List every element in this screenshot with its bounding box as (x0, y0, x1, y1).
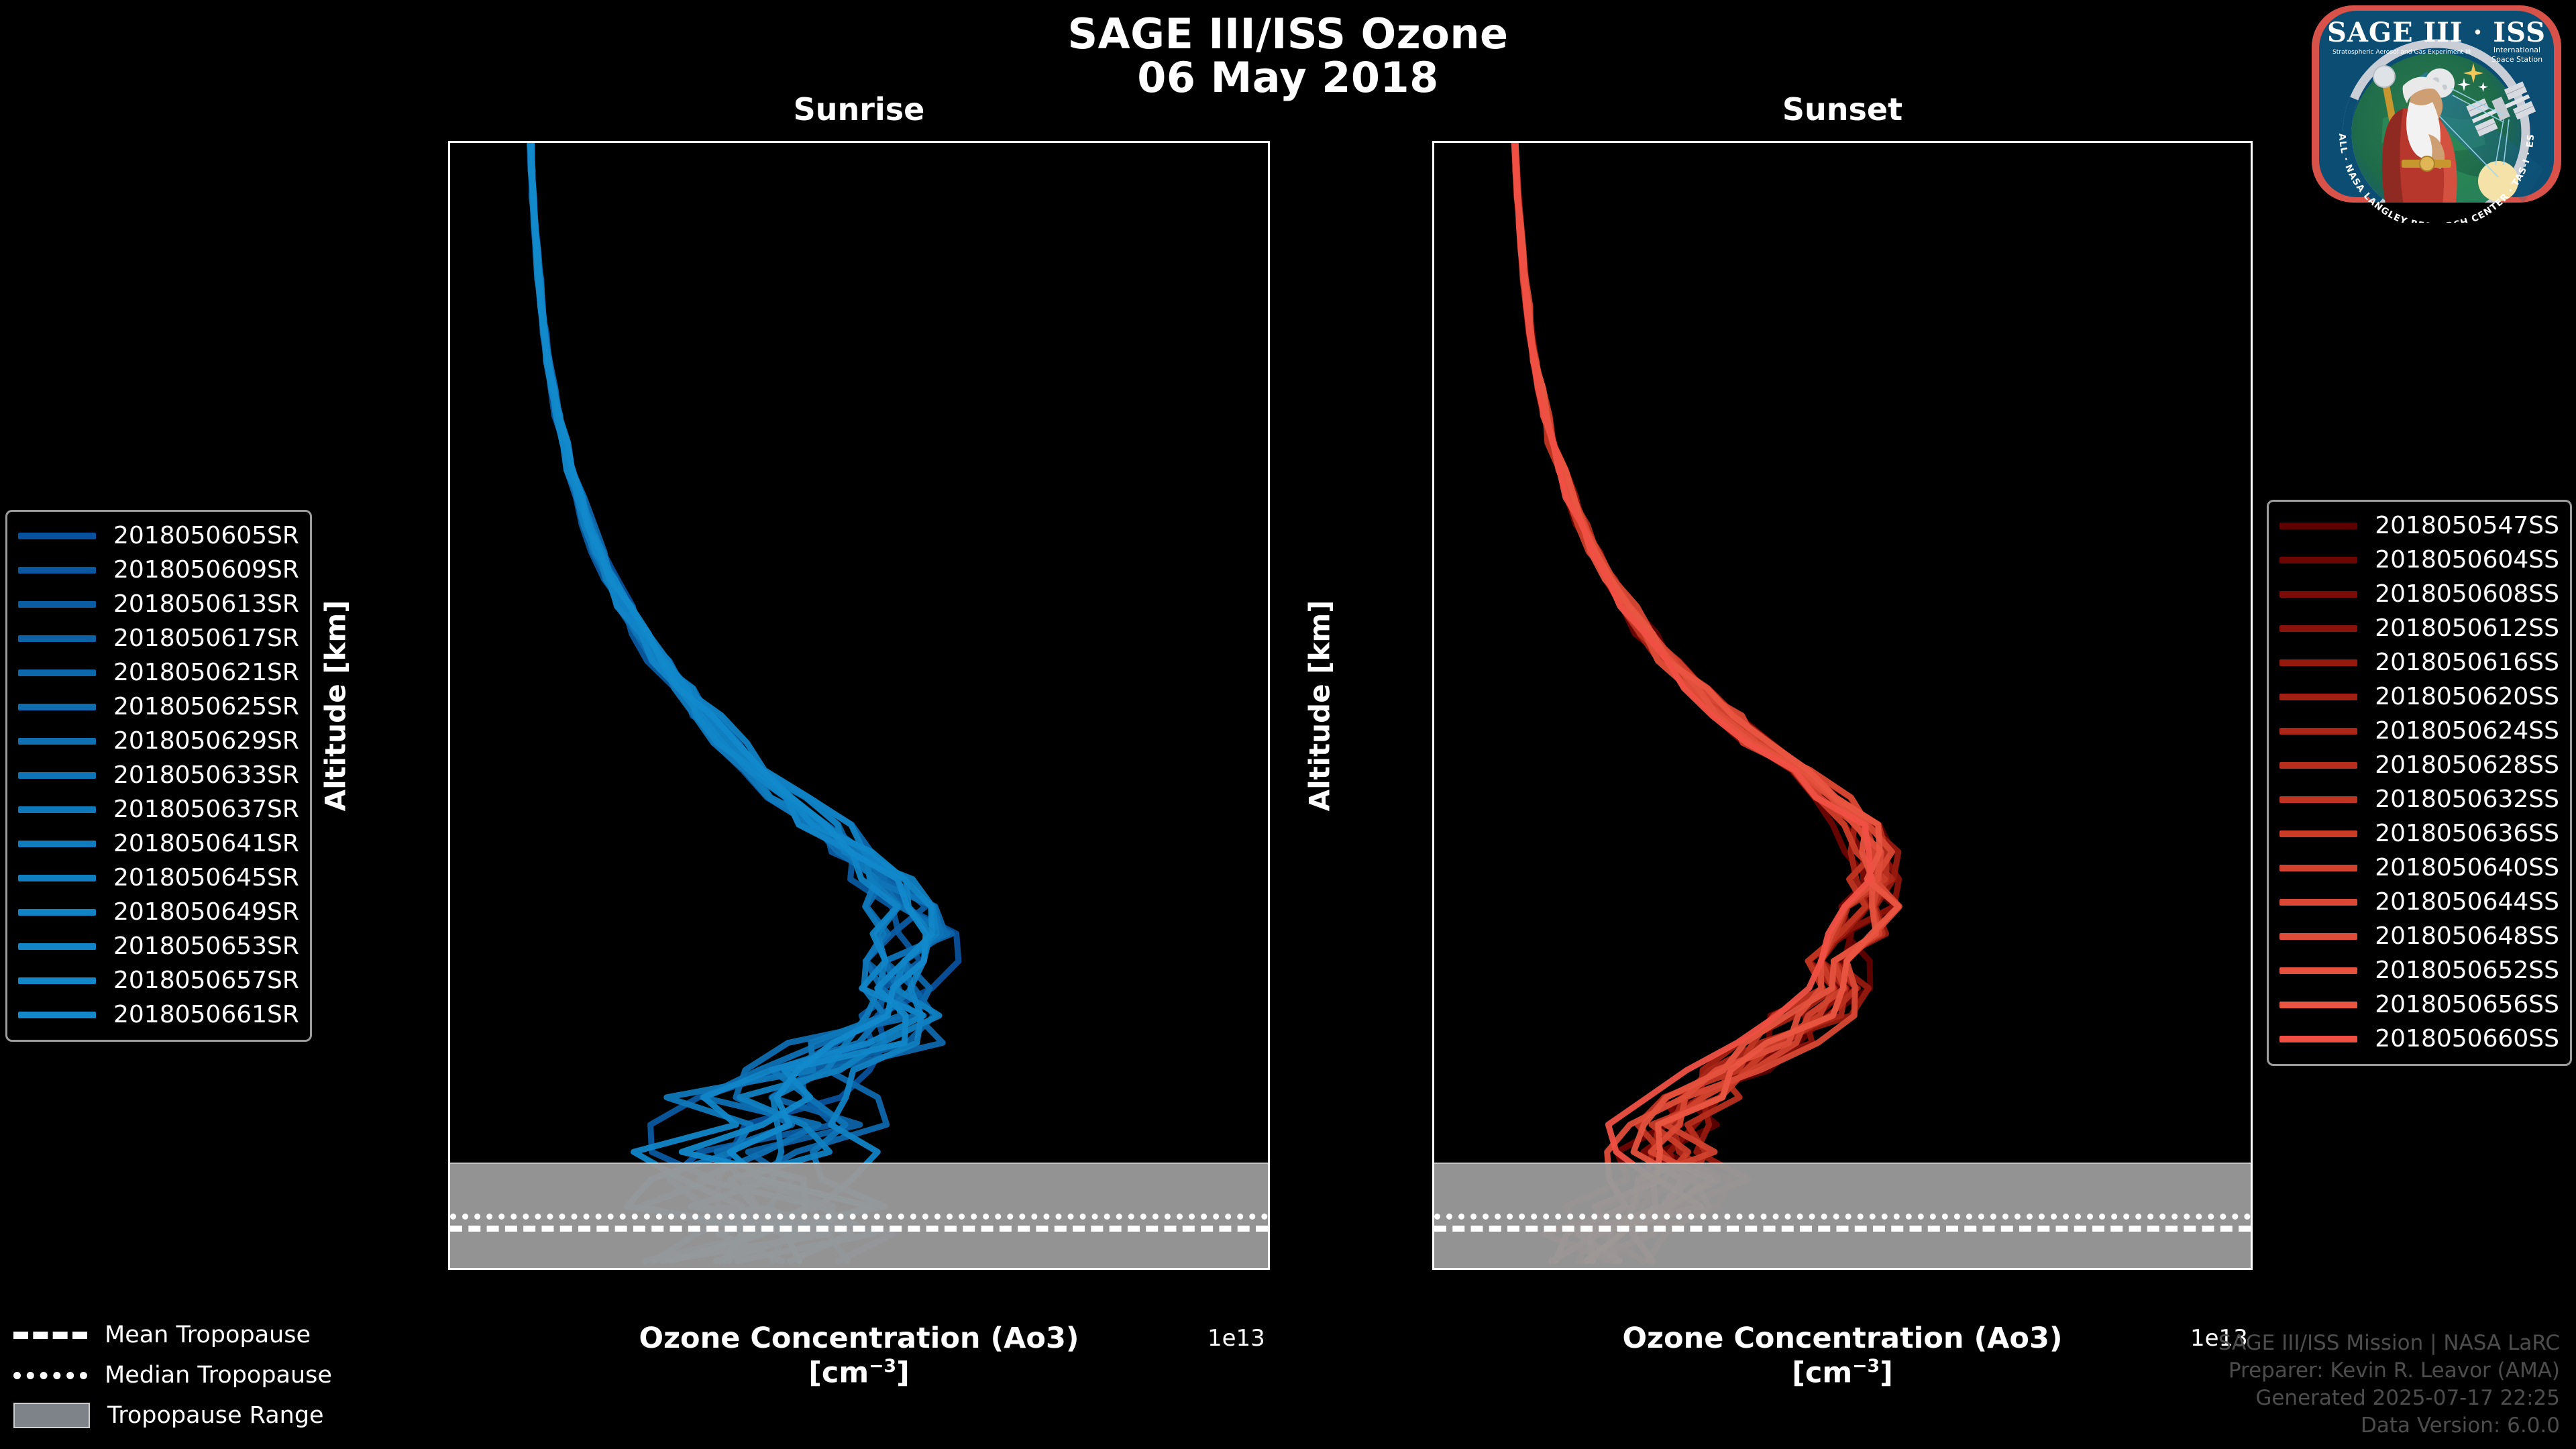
legend-item-label: 2018050547SS (2375, 512, 2559, 539)
legend-item[interactable]: 2018050605SR (18, 519, 299, 553)
legend-color-swatch (2279, 523, 2357, 529)
tropopause-legend-item[interactable]: Tropopause Range (13, 1395, 332, 1436)
legend-item-label: 2018050648SS (2375, 922, 2559, 950)
plot-area-sunset[interactable]: 5045403530252015100.00.20.40.60.81.0 (1432, 141, 2253, 1270)
legend-item-label: 2018050620SS (2375, 683, 2559, 710)
logo-subtitle-left: Stratospheric Aerosol and Gas Experiment… (2332, 48, 2471, 56)
x-tick-mark (1806, 1268, 1808, 1270)
legend-color-swatch (18, 601, 96, 608)
logo-svg: SAGE III · ISS Stratospheric Aerosol and… (2302, 1, 2571, 223)
legend-item[interactable]: 2018050547SS (2279, 508, 2559, 543)
x-tick-mark (972, 1268, 974, 1270)
legend-item-label: 2018050661SR (113, 1001, 299, 1028)
figure-title: SAGE III/ISS Ozone 06 May 2018 (0, 12, 2576, 99)
legend-item[interactable]: 2018050608SS (2279, 577, 2559, 611)
y-tick-mark (448, 960, 450, 962)
y-tick-mark (1432, 278, 1434, 280)
legend-color-swatch (18, 1012, 96, 1018)
logo-title: SAGE III · ISS (2327, 17, 2546, 48)
legend-color-swatch (18, 635, 96, 642)
legend-item-label: 2018050660SS (2375, 1025, 2559, 1053)
median-tropopause-line-sunset (1434, 1214, 2251, 1220)
legend-item[interactable]: 2018050633SR (18, 758, 299, 792)
figure-title-line1: SAGE III/ISS Ozone (1067, 9, 1508, 58)
mean-tropopause-line-sunrise (450, 1226, 1268, 1232)
x-axis-label-line2: [cm−3] (448, 1356, 1270, 1390)
legend-color-swatch (2279, 1036, 2357, 1042)
x-axis-exponent-sunrise: 1e13 (1207, 1325, 1265, 1352)
credits-block: SAGE III/ISS Mission | NASA LaRC Prepare… (2218, 1330, 2560, 1440)
legend-item-label: 2018050641SR (113, 830, 299, 857)
legend-color-swatch (18, 841, 96, 847)
y-tick-mark (448, 415, 450, 417)
y-tick-mark (1432, 824, 1434, 826)
legend-item[interactable]: 2018050612SS (2279, 611, 2559, 645)
y-tick-mark (1432, 688, 1434, 690)
y-tick-mark-right (2251, 278, 2253, 280)
legend-item[interactable]: 2018050636SS (2279, 816, 2559, 851)
legend-color-swatch (18, 669, 96, 676)
x-axis-label-line1: Ozone Concentration (Ao3) (448, 1322, 1270, 1356)
legend-sunset[interactable]: 2018050547SS2018050604SS2018050608SS2018… (2267, 500, 2572, 1066)
credits-line-generated: Generated 2025-07-17 22:25 (2218, 1385, 2560, 1412)
y-tick-mark (1432, 1233, 1434, 1235)
legend-item[interactable]: 2018050661SR (18, 998, 299, 1032)
legend-item-label: 2018050644SS (2375, 888, 2559, 916)
legend-item-label: 2018050649SR (113, 898, 299, 926)
y-tick-mark (1432, 415, 1434, 417)
legend-color-swatch (18, 738, 96, 745)
legend-item[interactable]: 2018050604SS (2279, 543, 2559, 577)
subplot-title-sunrise: Sunrise (448, 91, 1270, 127)
y-tick-mark-right (1268, 278, 1270, 280)
legend-item[interactable]: 2018050617SR (18, 621, 299, 655)
legend-item[interactable]: 2018050628SS (2279, 748, 2559, 782)
legend-item[interactable]: 2018050616SS (2279, 645, 2559, 680)
y-tick-mark (1432, 1096, 1434, 1098)
legend-color-swatch (2279, 694, 2357, 700)
y-tick-mark (448, 824, 450, 826)
y-tick-mark-right (1268, 1233, 1270, 1235)
legend-color-swatch (18, 567, 96, 574)
logo-subtitle-right-1: International (2493, 46, 2540, 54)
credits-line-mission: SAGE III/ISS Mission | NASA LaRC (2218, 1330, 2560, 1357)
legend-color-swatch (2279, 728, 2357, 735)
y-axis-label-sunrise: Altitude [km] (319, 600, 352, 811)
legend-color-swatch (18, 977, 96, 984)
subplot-title-sunset: Sunset (1432, 91, 2253, 127)
legend-item[interactable]: 2018050609SR (18, 553, 299, 587)
legend-item-label: 2018050612SS (2375, 614, 2559, 642)
x-tick-mark (2104, 1268, 2106, 1270)
legend-item-label: 2018050609SR (113, 556, 299, 584)
legend-item[interactable]: 2018050653SR (18, 929, 299, 963)
y-tick-mark-right (2251, 1096, 2253, 1098)
x-tick-mark (524, 1268, 526, 1270)
sunrise-profiles-svg (450, 143, 1270, 1270)
y-tick-mark-right (1268, 142, 1270, 144)
legend-item[interactable]: 2018050625SR (18, 690, 299, 724)
y-tick-mark (1432, 551, 1434, 553)
legend-item-label: 2018050657SR (113, 967, 299, 994)
x-axis-label-sunrise: Ozone Concentration (Ao3) [cm−3] (448, 1322, 1270, 1390)
tropopause-legend-label: Median Tropopause (105, 1362, 332, 1389)
legend-color-swatch (2279, 899, 2357, 906)
tropopause-legend-item[interactable]: Mean Tropopause (13, 1315, 332, 1355)
y-tick-mark-right (2251, 688, 2253, 690)
legend-item-label: 2018050625SR (113, 693, 299, 720)
legend-item-label: 2018050608SS (2375, 580, 2559, 608)
legend-item-label: 2018050621SR (113, 659, 299, 686)
legend-item-label: 2018050616SS (2375, 649, 2559, 676)
legend-color-swatch (2279, 557, 2357, 563)
y-tick-mark (448, 551, 450, 553)
legend-tropopause[interactable]: Mean TropopauseMedian TropopauseTropopau… (13, 1315, 332, 1436)
y-tick-mark-right (2251, 415, 2253, 417)
legend-item-label: 2018050604SS (2375, 546, 2559, 574)
logo-subtitle-right-2: Space Station (2491, 55, 2542, 64)
tropopause-legend-item[interactable]: Median Tropopause (13, 1355, 332, 1395)
legend-color-swatch (2279, 659, 2357, 666)
y-tick-mark-right (2251, 551, 2253, 553)
legend-color-swatch (2279, 1002, 2357, 1008)
figure-root: SAGE III/ISS Ozone 06 May 2018 Sunrise S… (0, 0, 2576, 1449)
y-tick-mark (448, 1096, 450, 1098)
x-tick-mark (1508, 1268, 1510, 1270)
y-tick-mark (448, 688, 450, 690)
legend-item-label: 2018050652SS (2375, 957, 2559, 984)
legend-color-swatch (2279, 933, 2357, 940)
y-axis-label-sunset: Altitude [km] (1303, 600, 1336, 811)
legend-item-label: 2018050645SR (113, 864, 299, 892)
legend-item[interactable]: 2018050648SS (2279, 919, 2559, 953)
y-tick-mark-right (2251, 824, 2253, 826)
ozone-profile-line (529, 143, 920, 1261)
legend-item[interactable]: 2018050621SR (18, 655, 299, 690)
x-tick-mark (1955, 1268, 1957, 1270)
x-axis-label-line2: [cm−3] (1432, 1356, 2253, 1390)
legend-color-swatch (18, 533, 96, 539)
legend-color-swatch (2279, 830, 2357, 837)
legend-item[interactable]: 2018050652SS (2279, 953, 2559, 987)
legend-item[interactable]: 2018050649SR (18, 895, 299, 929)
legend-color-swatch (2279, 796, 2357, 803)
legend-item[interactable]: 2018050640SS (2279, 851, 2559, 885)
y-tick-mark (1432, 142, 1434, 144)
tropopause-legend-label: Tropopause Range (107, 1402, 324, 1429)
y-tick-mark-right (2251, 142, 2253, 144)
legend-item-label: 2018050628SS (2375, 751, 2559, 779)
legend-item[interactable]: 2018050657SR (18, 963, 299, 998)
legend-item-label: 2018050640SS (2375, 854, 2559, 881)
x-tick-mark (822, 1268, 824, 1270)
x-tick-mark (674, 1268, 676, 1270)
median-tropopause-line-sunrise (450, 1214, 1268, 1220)
legend-color-swatch (2279, 865, 2357, 871)
legend-item-label: 2018050633SR (113, 761, 299, 789)
tropopause-legend-label: Mean Tropopause (105, 1322, 311, 1348)
legend-item[interactable]: 2018050660SS (2279, 1022, 2559, 1056)
legend-color-swatch (18, 772, 96, 779)
x-axis-label-sunset: Ozone Concentration (Ao3) [cm−3] (1432, 1322, 2253, 1390)
legend-item-label: 2018050637SR (113, 796, 299, 823)
y-tick-mark-right (1268, 960, 1270, 962)
legend-item[interactable]: 2018050632SS (2279, 782, 2559, 816)
y-tick-mark (448, 278, 450, 280)
legend-color-swatch (18, 704, 96, 710)
ozone-profile-line (531, 143, 952, 1261)
y-tick-mark-right (1268, 551, 1270, 553)
legend-item[interactable]: 2018050641SR (18, 826, 299, 861)
legend-item-label: 2018050624SS (2375, 717, 2559, 745)
tropopause-legend-swatch-band (13, 1403, 90, 1428)
tropopause-legend-swatch-dashed (13, 1332, 87, 1339)
x-tick-mark (1657, 1268, 1659, 1270)
legend-item-label: 2018050613SR (113, 590, 299, 618)
legend-item[interactable]: 2018050613SR (18, 587, 299, 621)
ozone-profile-line (531, 143, 918, 1261)
sunset-profiles-svg (1434, 143, 2253, 1270)
legend-color-swatch (18, 909, 96, 916)
y-tick-mark-right (1268, 824, 1270, 826)
legend-color-swatch (18, 875, 96, 881)
legend-item-label: 2018050617SR (113, 625, 299, 652)
legend-item-label: 2018050636SS (2375, 820, 2559, 847)
y-tick-mark (448, 1233, 450, 1235)
y-tick-mark-right (1268, 415, 1270, 417)
legend-item-label: 2018050605SR (113, 522, 299, 549)
y-tick-mark-right (2251, 960, 2253, 962)
legend-color-swatch (18, 943, 96, 950)
legend-item-label: 2018050656SS (2375, 991, 2559, 1018)
credits-line-preparer: Preparer: Kevin R. Leavor (AMA) (2218, 1357, 2560, 1385)
legend-color-swatch (2279, 762, 2357, 769)
legend-item[interactable]: 2018050624SS (2279, 714, 2559, 748)
legend-item-label: 2018050629SR (113, 727, 299, 755)
legend-color-swatch (2279, 591, 2357, 598)
legend-item[interactable]: 2018050645SR (18, 861, 299, 895)
plot-area-sunrise[interactable]: 5045403530252015100.00.20.40.60.81.0 (448, 141, 1270, 1270)
y-tick-mark-right (2251, 1233, 2253, 1235)
legend-color-swatch (2279, 625, 2357, 632)
legend-item-label: 2018050632SS (2375, 786, 2559, 813)
legend-item[interactable]: 2018050656SS (2279, 987, 2559, 1022)
legend-sunrise[interactable]: 2018050605SR2018050609SR2018050613SR2018… (5, 510, 312, 1042)
y-tick-mark-right (1268, 1096, 1270, 1098)
y-tick-mark (448, 142, 450, 144)
legend-item[interactable]: 2018050629SR (18, 724, 299, 758)
legend-color-swatch (18, 806, 96, 813)
legend-item-label: 2018050653SR (113, 932, 299, 960)
mean-tropopause-line-sunset (1434, 1226, 2251, 1232)
credits-line-version: Data Version: 6.0.0 (2218, 1412, 2560, 1440)
x-tick-mark (1122, 1268, 1124, 1270)
tropopause-legend-swatch-dotted (13, 1372, 87, 1379)
legend-item[interactable]: 2018050620SS (2279, 680, 2559, 714)
legend-item[interactable]: 2018050644SS (2279, 885, 2559, 919)
y-tick-mark-right (1268, 688, 1270, 690)
legend-item[interactable]: 2018050637SR (18, 792, 299, 826)
x-axis-label-line1: Ozone Concentration (Ao3) (1432, 1322, 2253, 1356)
y-tick-mark (1432, 960, 1434, 962)
legend-color-swatch (2279, 967, 2357, 974)
sage-iii-iss-logo: SAGE III · ISS Stratospheric Aerosol and… (2302, 1, 2571, 223)
